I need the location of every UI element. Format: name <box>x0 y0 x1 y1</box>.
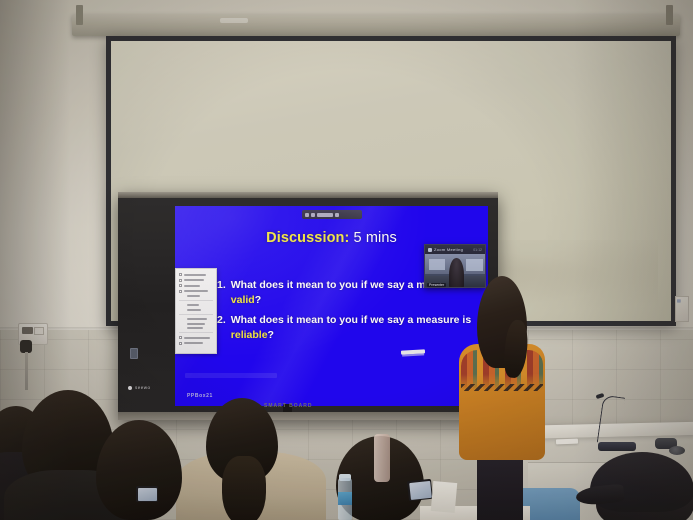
list-item-text-after: ? <box>255 294 261 306</box>
phone-display[interactable] <box>138 488 157 501</box>
menu-item-label <box>184 290 208 292</box>
menu-item-label <box>187 318 207 320</box>
toolbar-icon-4[interactable] <box>335 213 339 217</box>
phone-display[interactable] <box>409 480 432 499</box>
video-call-timer: 01:12 <box>473 248 482 252</box>
list-item[interactable] <box>179 309 213 311</box>
slide-title-highlight: Discussion: <box>266 230 349 246</box>
phone-screen[interactable] <box>407 479 433 501</box>
checkbox-icon[interactable] <box>179 284 182 287</box>
panel-bottom-edge <box>118 412 498 420</box>
list-item-number: 1. <box>217 278 226 308</box>
panel-brand-label: SMART BOARD <box>264 403 313 409</box>
slide-faint-band <box>185 373 277 378</box>
checkbox-icon[interactable] <box>179 342 182 345</box>
paper-sheet <box>431 481 458 513</box>
video-feed-window-right <box>466 259 483 271</box>
slide-title-rest: 5 mins <box>349 230 396 246</box>
menu-item-label <box>187 295 200 297</box>
panel-side-logo-text: seewo <box>135 385 151 390</box>
list-item[interactable] <box>179 273 213 276</box>
presentation-toolbar[interactable] <box>302 210 362 219</box>
menu-item-label <box>184 285 200 287</box>
thermos-bottle <box>374 434 390 482</box>
list-item[interactable] <box>179 304 213 306</box>
panel-side-logo: seewo <box>128 385 151 390</box>
toolbar-icon-1[interactable] <box>305 213 309 217</box>
list-item[interactable] <box>179 318 213 320</box>
annotation-ink-mark <box>401 349 425 354</box>
roller-bracket-left <box>76 5 83 25</box>
menu-divider <box>179 332 213 333</box>
list-item[interactable] <box>179 323 213 325</box>
left-vignette <box>0 0 70 520</box>
toolbar-icon-2[interactable] <box>311 213 315 217</box>
checkbox-icon[interactable] <box>179 336 182 339</box>
menu-item-label <box>184 337 210 339</box>
right-vignette <box>573 0 693 520</box>
list-item[interactable] <box>179 284 213 287</box>
audience-ponytail <box>222 456 266 520</box>
menu-divider <box>179 300 213 301</box>
video-camera-icon <box>428 248 432 252</box>
video-participant-name: Presenter <box>427 283 446 287</box>
list-item-text: What does it mean to you if we say a mea… <box>231 313 474 343</box>
menu-divider <box>179 314 213 315</box>
presenter-trousers <box>477 454 523 520</box>
list-item-number: 2. <box>217 313 226 343</box>
menu-item-label <box>187 327 203 329</box>
menu-item-label <box>187 304 199 306</box>
video-window-titlebar[interactable]: Zoom Meeting 01:12 <box>425 245 485 254</box>
toolbar-icon-3[interactable] <box>317 213 333 217</box>
logo-dot-icon <box>128 386 132 390</box>
menu-item-label <box>184 274 206 276</box>
hdmi-port-icon <box>130 348 138 359</box>
menu-item-label <box>187 309 201 311</box>
roller-notch <box>220 18 248 23</box>
classroom-photo-scene: ▤ seewo Discussion: 5 mins 1. What <box>0 0 693 520</box>
list-item-keyword: reliable <box>231 329 268 341</box>
list-item[interactable] <box>179 290 213 293</box>
list-item: 2. What does it mean to you if we say a … <box>217 313 474 343</box>
slide-viewport[interactable]: Discussion: 5 mins 1. What does it mean … <box>175 206 488 406</box>
list-item-text-before: What does it mean to you if we say a mea… <box>231 314 471 326</box>
video-window-title: Zoom Meeting <box>434 247 463 252</box>
presenter-sweater-zigzag <box>461 384 543 391</box>
checkbox-icon[interactable] <box>179 279 182 282</box>
panel-top-edge <box>118 192 498 198</box>
list-item[interactable] <box>179 327 213 329</box>
water-bottle-label <box>338 492 352 505</box>
list-item[interactable] <box>179 295 213 297</box>
list-item[interactable] <box>179 336 213 339</box>
video-feed-window-left <box>429 259 445 270</box>
phone-screen[interactable] <box>136 486 158 502</box>
interactive-display-panel[interactable]: seewo Discussion: 5 mins 1. What does it… <box>118 192 498 420</box>
slide-footer-logo: PPBox21 <box>187 393 213 399</box>
list-item-keyword: valid <box>231 294 255 306</box>
menu-item-label <box>184 342 203 344</box>
slide-body: 1. What does it mean to you if we say a … <box>217 278 474 348</box>
menu-item-label <box>187 323 205 325</box>
list-item[interactable] <box>179 342 213 345</box>
slide-options-popup[interactable] <box>175 268 217 354</box>
checkbox-icon[interactable] <box>179 290 182 293</box>
list-item-text-after: ? <box>268 329 274 341</box>
list-item[interactable] <box>179 279 213 282</box>
checkbox-icon[interactable] <box>179 273 182 276</box>
menu-item-label <box>184 279 204 281</box>
